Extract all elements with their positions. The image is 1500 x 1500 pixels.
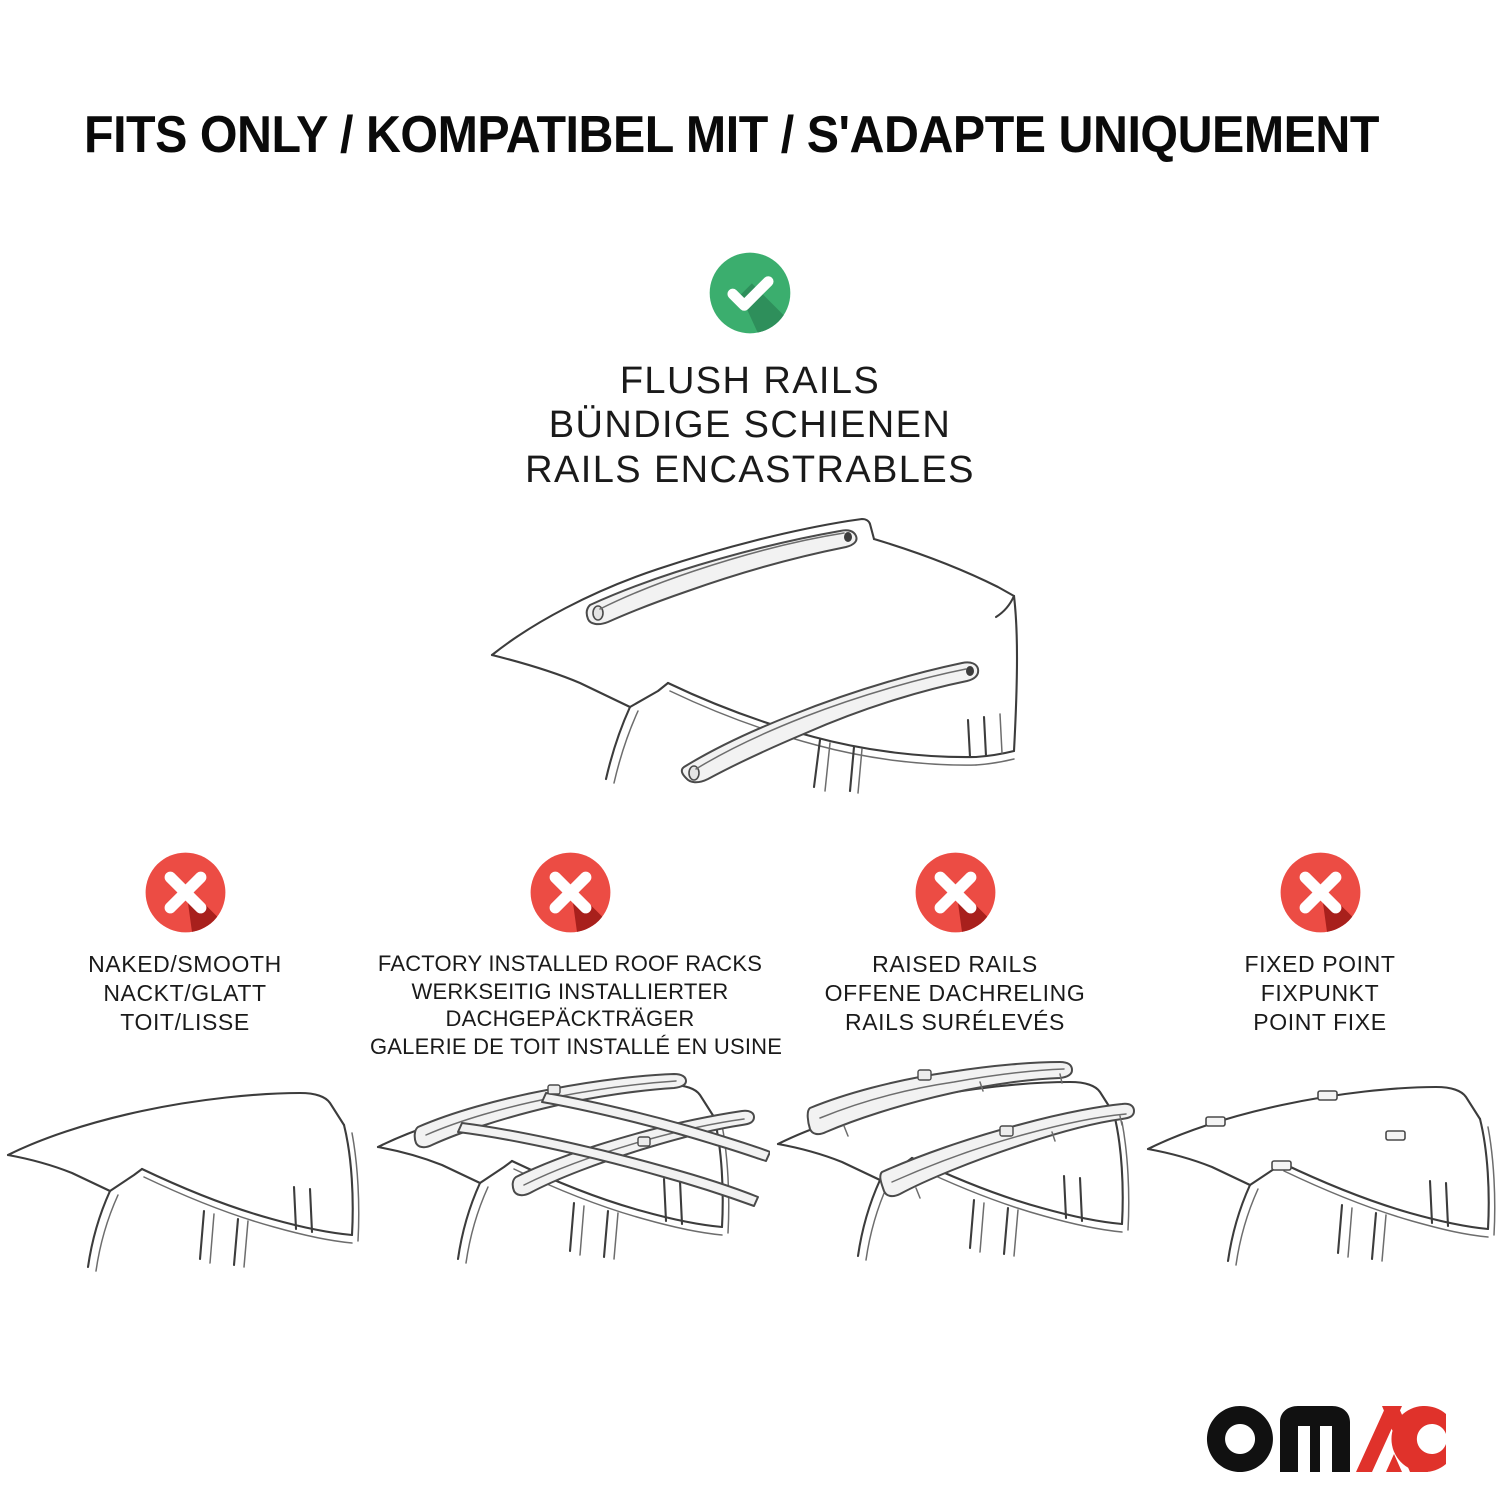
label-line-2: NACKT/GLATT [0,979,370,1008]
incompatible-item-fixed-point: FIXED POINT FIXPUNKT POINT FIXE [1140,845,1500,1297]
incompatible-label: FIXED POINT FIXPUNKT POINT FIXE [1140,950,1500,1037]
x-circle-icon [138,845,233,940]
x-circle-icon [1273,845,1368,940]
compatible-label-line-3: RAILS ENCASTRABLES [0,448,1500,492]
label-line-2: OFFENE DACHRELING [770,979,1140,1008]
incompatible-item-raised-rails: RAISED RAILS OFFENE DACHRELING RAILS SUR… [770,845,1140,1297]
label-line-3: POINT FIXE [1140,1008,1500,1037]
compatible-section: FLUSH RAILS BÜNDIGE SCHIENEN RAILS ENCAS… [0,245,1500,492]
incompatible-label: RAISED RAILS OFFENE DACHRELING RAILS SUR… [770,950,1140,1037]
label-line-3: TOIT/LISSE [0,1008,370,1037]
compatible-label: FLUSH RAILS BÜNDIGE SCHIENEN RAILS ENCAS… [0,359,1500,492]
label-line-4: GALERIE DE TOIT INSTALLÉ EN USINE [370,1033,770,1061]
label-line-1: FACTORY INSTALLED ROOF RACKS [370,950,770,978]
car-roof-factory-racks-illustration [370,1065,770,1285]
x-circle-icon [908,845,1003,940]
incompatible-label: FACTORY INSTALLED ROOF RACKS WERKSEITIG … [370,950,770,1061]
label-line-3: DACHGEPÄCKTRÄGER [370,1005,770,1033]
logo-letter-m [1280,1406,1350,1472]
label-line-1: NAKED/SMOOTH [0,950,370,979]
page-title: FITS ONLY / KOMPATIBEL MIT / S'ADAPTE UN… [84,108,1330,163]
incompatible-item-factory-roof-racks: FACTORY INSTALLED ROOF RACKS WERKSEITIG … [370,845,770,1297]
label-line-2: FIXPUNKT [1140,979,1500,1008]
check-circle-icon [702,245,798,341]
compatible-label-line-1: FLUSH RAILS [0,359,1500,403]
x-circle-icon [523,845,618,940]
incompatible-item-naked-smooth: NAKED/SMOOTH NACKT/GLATT TOIT/LISSE [0,845,370,1297]
omac-logo [1196,1400,1446,1478]
logo-letter-o [1207,1406,1273,1472]
car-roof-naked-illustration [0,1077,370,1297]
car-roof-raised-rails-illustration [770,1060,1140,1280]
incompatible-section: NAKED/SMOOTH NACKT/GLATT TOIT/LISSE [0,845,1500,1297]
compatible-label-line-2: BÜNDIGE SCHIENEN [0,403,1500,447]
incompatible-label: NAKED/SMOOTH NACKT/GLATT TOIT/LISSE [0,950,370,1037]
car-roof-fixed-point-illustration [1140,1077,1500,1297]
car-roof-flush-rails-illustration [462,495,1042,795]
label-line-3: RAILS SURÉLEVÉS [770,1008,1140,1037]
label-line-1: FIXED POINT [1140,950,1500,979]
label-line-2: WERKSEITIG INSTALLIERTER [370,978,770,1006]
label-line-1: RAISED RAILS [770,950,1140,979]
